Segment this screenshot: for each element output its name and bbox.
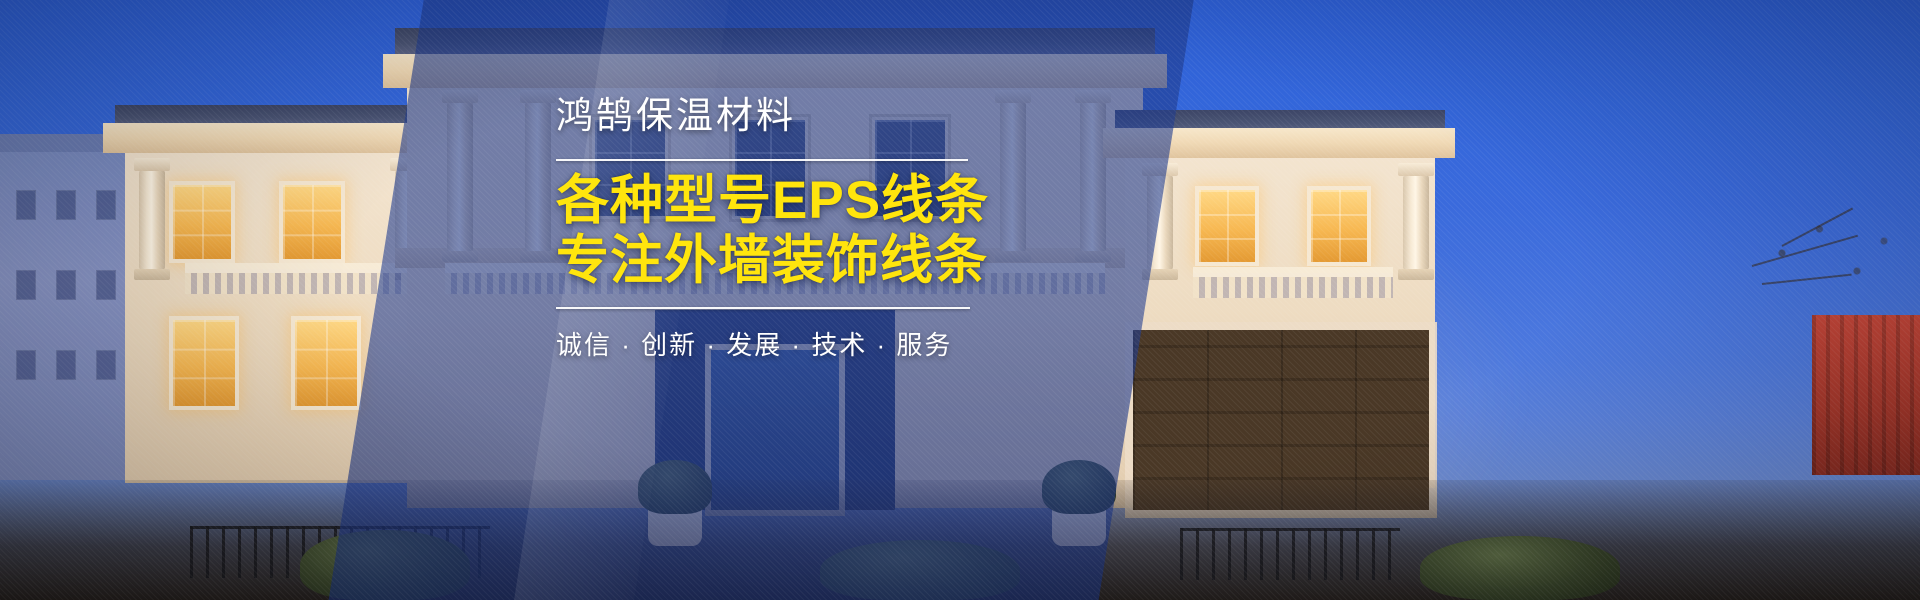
tagline: 诚信 · 创新 · 发展 · 技术 · 服务 (556, 325, 1026, 362)
tree-branch (1752, 205, 1902, 325)
brand-name: 鸿鹄保温材料 (556, 96, 1026, 137)
fence-railing (1180, 528, 1400, 580)
window-lit (173, 185, 231, 259)
window-lit (295, 320, 357, 406)
window-lit (1311, 190, 1367, 262)
headline-line-1: 各种型号EPS线条 (556, 171, 1026, 231)
column (139, 170, 165, 270)
window-lit (1199, 190, 1255, 262)
banner-copy: 鸿鹄保温材料 各种型号EPS线条 专注外墙装饰线条 诚信 · 创新 · 发展 ·… (556, 96, 1026, 362)
column (1403, 175, 1429, 270)
headline-line-2: 专注外墙装饰线条 (556, 231, 1026, 291)
window-lit (173, 320, 235, 406)
divider-bottom (556, 307, 970, 309)
shrub (1420, 536, 1620, 600)
window-lit (283, 185, 341, 259)
hero-banner: 鸿鹄保温材料 各种型号EPS线条 专注外墙装饰线条 诚信 · 创新 · 发展 ·… (0, 0, 1920, 600)
red-container (1812, 315, 1920, 475)
balustrade (1193, 272, 1393, 298)
divider-top (556, 159, 968, 161)
